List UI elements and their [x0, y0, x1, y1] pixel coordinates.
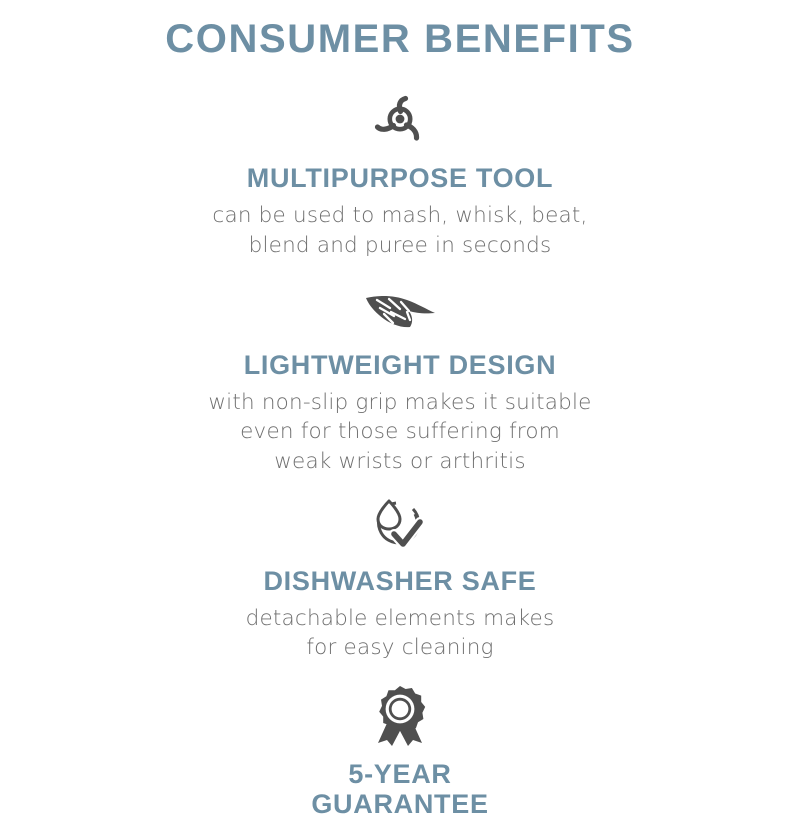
dishwasher-safe-icon	[369, 496, 431, 554]
benefit-item-guarantee: 5-YEAR GUARANTEE	[0, 663, 800, 819]
page-title: CONSUMER BENEFITS	[165, 18, 634, 61]
benefit-description-line: weak wrists or arthritis	[208, 447, 591, 476]
benefit-description-line: detachable elements makes	[246, 604, 555, 633]
benefit-heading: LIGHTWEIGHT DESIGN	[244, 350, 557, 380]
benefit-description: with non-slip grip makes it suitable eve…	[208, 388, 591, 476]
benefits-list: MULTIPURPOSE TOOL can be used to mash, w…	[0, 61, 800, 819]
feather-icon	[360, 282, 440, 340]
benefit-heading: 5-YEAR GUARANTEE	[311, 759, 488, 819]
benefit-description: detachable elements makes for easy clean…	[246, 604, 555, 662]
benefit-heading: DISHWASHER SAFE	[263, 566, 536, 596]
benefit-description-line: blend and puree in seconds	[212, 231, 587, 260]
benefit-description-line: for easy cleaning	[246, 633, 555, 662]
blender-blade-icon	[368, 93, 432, 151]
benefit-description-line: can be used to mash, whisk, beat,	[212, 201, 587, 230]
benefit-description-line: even for those suffering from	[208, 417, 591, 446]
benefit-description: can be used to mash, whisk, beat, blend …	[212, 201, 587, 259]
benefit-description-line: with non-slip grip makes it suitable	[208, 388, 591, 417]
benefit-heading: MULTIPURPOSE TOOL	[247, 163, 553, 193]
consumer-benefits-poster: CONSUMER BENEFITS MULTIPURPOSE TOOL can …	[0, 0, 800, 800]
benefit-item-dishwasher-safe: DISHWASHER SAFE detachable elements make…	[0, 476, 800, 663]
benefit-item-multipurpose-tool: MULTIPURPOSE TOOL can be used to mash, w…	[0, 61, 800, 260]
benefit-item-lightweight-design: LIGHTWEIGHT DESIGN with non-slip grip ma…	[0, 260, 800, 476]
award-badge-icon	[370, 687, 430, 745]
